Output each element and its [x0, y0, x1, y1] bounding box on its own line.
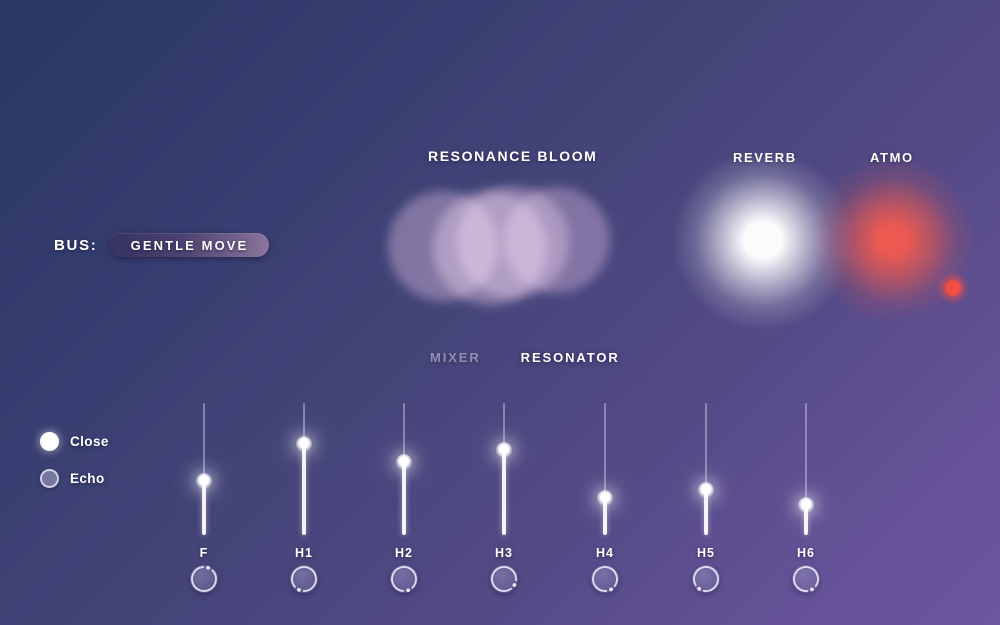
knob-ring-icon	[188, 563, 220, 595]
knob-h5[interactable]	[690, 563, 722, 595]
slider-label: H2	[374, 546, 434, 560]
knob-h3[interactable]	[488, 563, 520, 595]
knob-h2[interactable]	[388, 563, 420, 595]
slider-handle[interactable]	[296, 436, 312, 452]
slider-label: H1	[274, 546, 334, 560]
slider-label: H3	[474, 546, 534, 560]
slider-fill	[302, 444, 306, 535]
knob-h1[interactable]	[288, 563, 320, 595]
slider-handle[interactable]	[496, 442, 512, 458]
knob-ring-icon	[790, 563, 822, 595]
slider-handle[interactable]	[196, 473, 212, 489]
knob-ring-icon	[488, 563, 520, 595]
knob-h4[interactable]	[589, 563, 621, 595]
slider-label: F	[174, 546, 234, 560]
slider-handle[interactable]	[396, 454, 412, 470]
slider-label: H4	[575, 546, 635, 560]
knob-ring-icon	[388, 563, 420, 595]
synth-panel: BUS: GENTLE MOVE RESONANCE BLOOM REVERB …	[0, 0, 1000, 625]
knob-h6[interactable]	[790, 563, 822, 595]
slider-fill	[202, 481, 206, 535]
slider-label: H6	[776, 546, 836, 560]
slider-label: H5	[676, 546, 736, 560]
slider-handle[interactable]	[597, 490, 613, 506]
slider-handle[interactable]	[798, 497, 814, 513]
knob-ring-icon	[589, 563, 621, 595]
knob-ring-icon	[288, 563, 320, 595]
harmonic-slider-bank: FH1H2H3H4H5H6	[0, 0, 1000, 625]
knob-f[interactable]	[188, 563, 220, 595]
slider-handle[interactable]	[698, 482, 714, 498]
slider-fill	[502, 450, 506, 535]
knob-ring-icon	[690, 563, 722, 595]
slider-fill	[402, 462, 406, 535]
